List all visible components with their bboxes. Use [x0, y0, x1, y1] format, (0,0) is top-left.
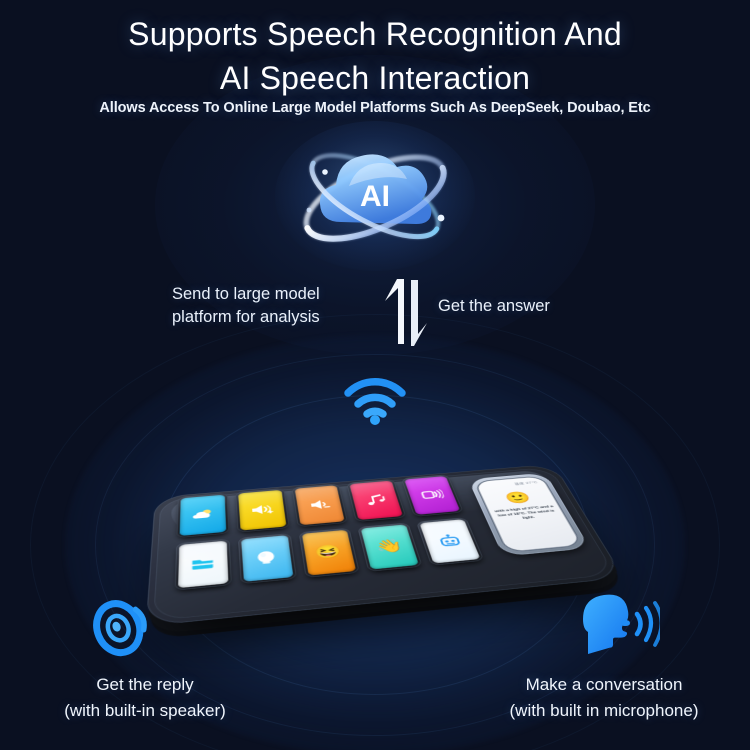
flow-send-line-2: platform for analysis [172, 306, 372, 329]
key-files-cap [178, 540, 228, 588]
key-files[interactable] [175, 538, 232, 590]
ai-cloud-badge: AI [265, 126, 485, 266]
headline-line-2: AI Speech Interaction [0, 56, 750, 100]
key-light[interactable] [238, 533, 297, 584]
key-laugh-emoji[interactable]: 😆 [298, 527, 360, 577]
cloud-sun-icon [191, 507, 215, 522]
exchange-arrows [380, 274, 432, 348]
key-wave-hand-cap: 👋 [361, 524, 419, 569]
speaker-icon [88, 596, 154, 658]
key-weather[interactable] [176, 493, 229, 538]
folder-icon [190, 556, 216, 571]
ai-speech-keypad[interactable]: 😆 👋 [146, 464, 625, 626]
wifi-icon [342, 375, 408, 425]
waving-hand-icon: 👋 [374, 538, 405, 553]
key-light-cap [241, 535, 293, 582]
robot-bot-icon [435, 533, 464, 548]
key-volume-up-cap [238, 490, 286, 530]
talking-head-icon [570, 592, 660, 662]
key-volume-down[interactable] [291, 483, 348, 526]
caption-microphone-line-2: (with built in microphone) [464, 698, 744, 724]
volume-up-icon [249, 503, 274, 517]
key-volume-up[interactable] [235, 488, 289, 532]
caption-speaker-line-2: (with built-in speaker) [15, 698, 275, 724]
key-weather-cap [180, 495, 226, 536]
caption-speaker: Get the reply (with built-in speaker) [15, 672, 275, 724]
key-wave-hand[interactable]: 👋 [358, 522, 423, 572]
caption-microphone: Make a conversation (with built in micro… [464, 672, 744, 724]
page-title: Supports Speech Recognition And AI Speec… [0, 12, 750, 100]
promo-scene: Supports Speech Recognition And AI Speec… [0, 0, 750, 750]
ai-label: AI [360, 180, 390, 213]
flow-send-line-1: Send to large model [172, 283, 372, 306]
screen-message: with a high of 27°C and a low of 18°C. T… [494, 504, 560, 522]
caption-speaker-line-1: Get the reply [15, 672, 275, 698]
key-music-cap [350, 481, 403, 520]
caption-microphone-line-1: Make a conversation [464, 672, 744, 698]
flow-send-label: Send to large model platform for analysi… [172, 283, 372, 329]
arrow-up-icon [385, 279, 404, 344]
screen-header: 温度 27°C [514, 481, 539, 486]
device-scene: 😆 👋 [155, 430, 595, 660]
key-volume-down-cap [294, 485, 345, 525]
headline-line-1: Supports Speech Recognition And [0, 12, 750, 56]
light-bubble-icon [254, 549, 279, 566]
music-note-icon [364, 493, 389, 507]
flow-receive-label: Get the answer [438, 295, 550, 318]
volume-down-icon [306, 498, 332, 512]
ai-cloud-orbit-icon: AI [265, 126, 485, 266]
key-laugh-emoji-cap: 😆 [302, 529, 357, 575]
page-subtitle: Allows Access To Online Large Model Plat… [0, 100, 750, 116]
smiley-face-icon: 🙂 [503, 491, 533, 504]
layers-stack-icon [418, 488, 445, 501]
laughing-face-icon: 😆 [313, 544, 343, 560]
arrow-down-icon [411, 280, 427, 346]
